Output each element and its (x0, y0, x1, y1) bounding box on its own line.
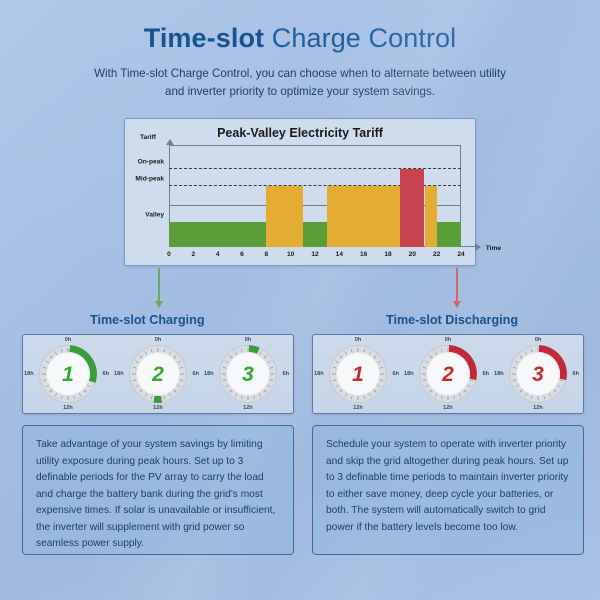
dial-number: 2 (442, 364, 454, 385)
x-tick-label: 2 (191, 251, 195, 258)
infographic-page: Time-slot Charge Control With Time-slot … (0, 0, 600, 600)
dial-hour-label: 0h (445, 337, 452, 343)
time-slot-dial[interactable]: 20h6h12h18h (419, 345, 477, 403)
dial-face: 1 (46, 352, 90, 396)
x-axis-label: Time (486, 245, 501, 252)
chart-y-label: Mid-peak (135, 175, 164, 182)
dial-face: 2 (136, 352, 180, 396)
x-tick-label: 0 (167, 251, 171, 258)
x-tick-label: 20 (409, 251, 416, 258)
time-slot-dial[interactable]: 30h6h12h18h (219, 345, 277, 403)
x-tick-label: 16 (360, 251, 367, 258)
dial-number: 1 (352, 364, 364, 385)
header: Time-slot Charge Control With Time-slot … (0, 0, 600, 101)
connector-shaft (158, 268, 160, 302)
dial-hour-label: 0h (355, 337, 362, 343)
page-subtitle: With Time-slot Charge Control, you can c… (84, 65, 516, 101)
dial-hour-label: 0h (245, 337, 252, 343)
chart-bars (169, 145, 461, 247)
page-title-strong: Time-slot (144, 23, 264, 53)
y-axis-label: Tariff (140, 134, 156, 141)
page-title: Time-slot Charge Control (0, 24, 600, 54)
dial-hour-label: 18h (114, 371, 124, 377)
chart-y-label: On-peak (138, 159, 164, 166)
dial-hour-label: 0h (155, 337, 162, 343)
dial-number: 2 (152, 364, 164, 385)
chart-bar (327, 186, 400, 247)
section-heading-discharging: Time-slot Discharging (386, 313, 518, 327)
dial-hour-label: 12h (153, 405, 163, 411)
connector-arrow-discharging (456, 268, 458, 302)
dial-hour-label: 6h (192, 371, 199, 377)
dial-face: 1 (336, 352, 380, 396)
chart-plot-area: Tariff Time ValleyMid-peakOn-peak 024681… (169, 145, 461, 247)
dial-panel-charging: 10h6h12h18h20h6h12h18h30h6h12h18h (22, 334, 294, 414)
dial-hour-label: 12h (243, 405, 253, 411)
x-tick-label: 8 (264, 251, 268, 258)
dial-number: 3 (242, 364, 254, 385)
x-tick-label: 14 (336, 251, 343, 258)
dial-hour-label: 0h (535, 337, 542, 343)
dial-face: 3 (516, 352, 560, 396)
page-title-light: Charge Control (272, 23, 457, 53)
dial-hour-label: 6h (482, 371, 489, 377)
time-slot-dial[interactable]: 30h6h12h18h (509, 345, 567, 403)
dial-face: 2 (426, 352, 470, 396)
dial-hour-label: 18h (24, 371, 34, 377)
dial-hour-label: 18h (314, 371, 324, 377)
dial-hour-label: 18h (204, 371, 214, 377)
connector-shaft (456, 268, 458, 302)
dial-hour-label: 12h (63, 405, 73, 411)
arrow-down-icon (453, 301, 461, 308)
description-charging: Take advantage of your system savings by… (22, 425, 294, 555)
chart-bar (266, 186, 303, 247)
description-discharging: Schedule your system to operate with inv… (312, 425, 584, 555)
dial-hour-label: 18h (404, 371, 414, 377)
chart-bar (169, 222, 266, 248)
dial-number: 1 (62, 364, 74, 385)
time-slot-dial[interactable]: 10h6h12h18h (39, 345, 97, 403)
dial-hour-label: 6h (572, 371, 579, 377)
chart-bar (425, 186, 437, 247)
connector-arrow-charging (158, 268, 160, 302)
tariff-chart-panel: Peak-Valley Electricity Tariff Tariff Ti… (124, 118, 476, 266)
chart-bar (400, 169, 424, 247)
dial-hour-label: 12h (533, 405, 543, 411)
x-tick-label: 10 (287, 251, 294, 258)
dial-hour-label: 0h (65, 337, 72, 343)
dial-number: 3 (532, 364, 544, 385)
dial-face: 3 (226, 352, 270, 396)
x-tick-label: 12 (311, 251, 318, 258)
chart-title: Peak-Valley Electricity Tariff (125, 126, 475, 140)
dial-hour-label: 18h (494, 371, 504, 377)
dial-hour-label: 6h (392, 371, 399, 377)
x-tick-label: 24 (457, 251, 464, 258)
dial-hour-label: 6h (282, 371, 289, 377)
dial-hour-label: 12h (353, 405, 363, 411)
x-tick-label: 6 (240, 251, 244, 258)
dial-hour-label: 6h (102, 371, 109, 377)
chart-y-label: Valley (145, 211, 164, 218)
x-axis-arrow-icon (475, 243, 481, 251)
dial-panel-discharging: 10h6h12h18h20h6h12h18h30h6h12h18h (312, 334, 584, 414)
time-slot-dial[interactable]: 20h6h12h18h (129, 345, 187, 403)
section-heading-charging: Time-slot Charging (90, 313, 205, 327)
chart-bar (303, 222, 327, 248)
x-tick-label: 18 (384, 251, 391, 258)
arrow-down-icon (155, 301, 163, 308)
chart-bar (437, 222, 461, 248)
x-tick-label: 4 (216, 251, 220, 258)
time-slot-dial[interactable]: 10h6h12h18h (329, 345, 387, 403)
x-tick-label: 22 (433, 251, 440, 258)
dial-hour-label: 12h (443, 405, 453, 411)
